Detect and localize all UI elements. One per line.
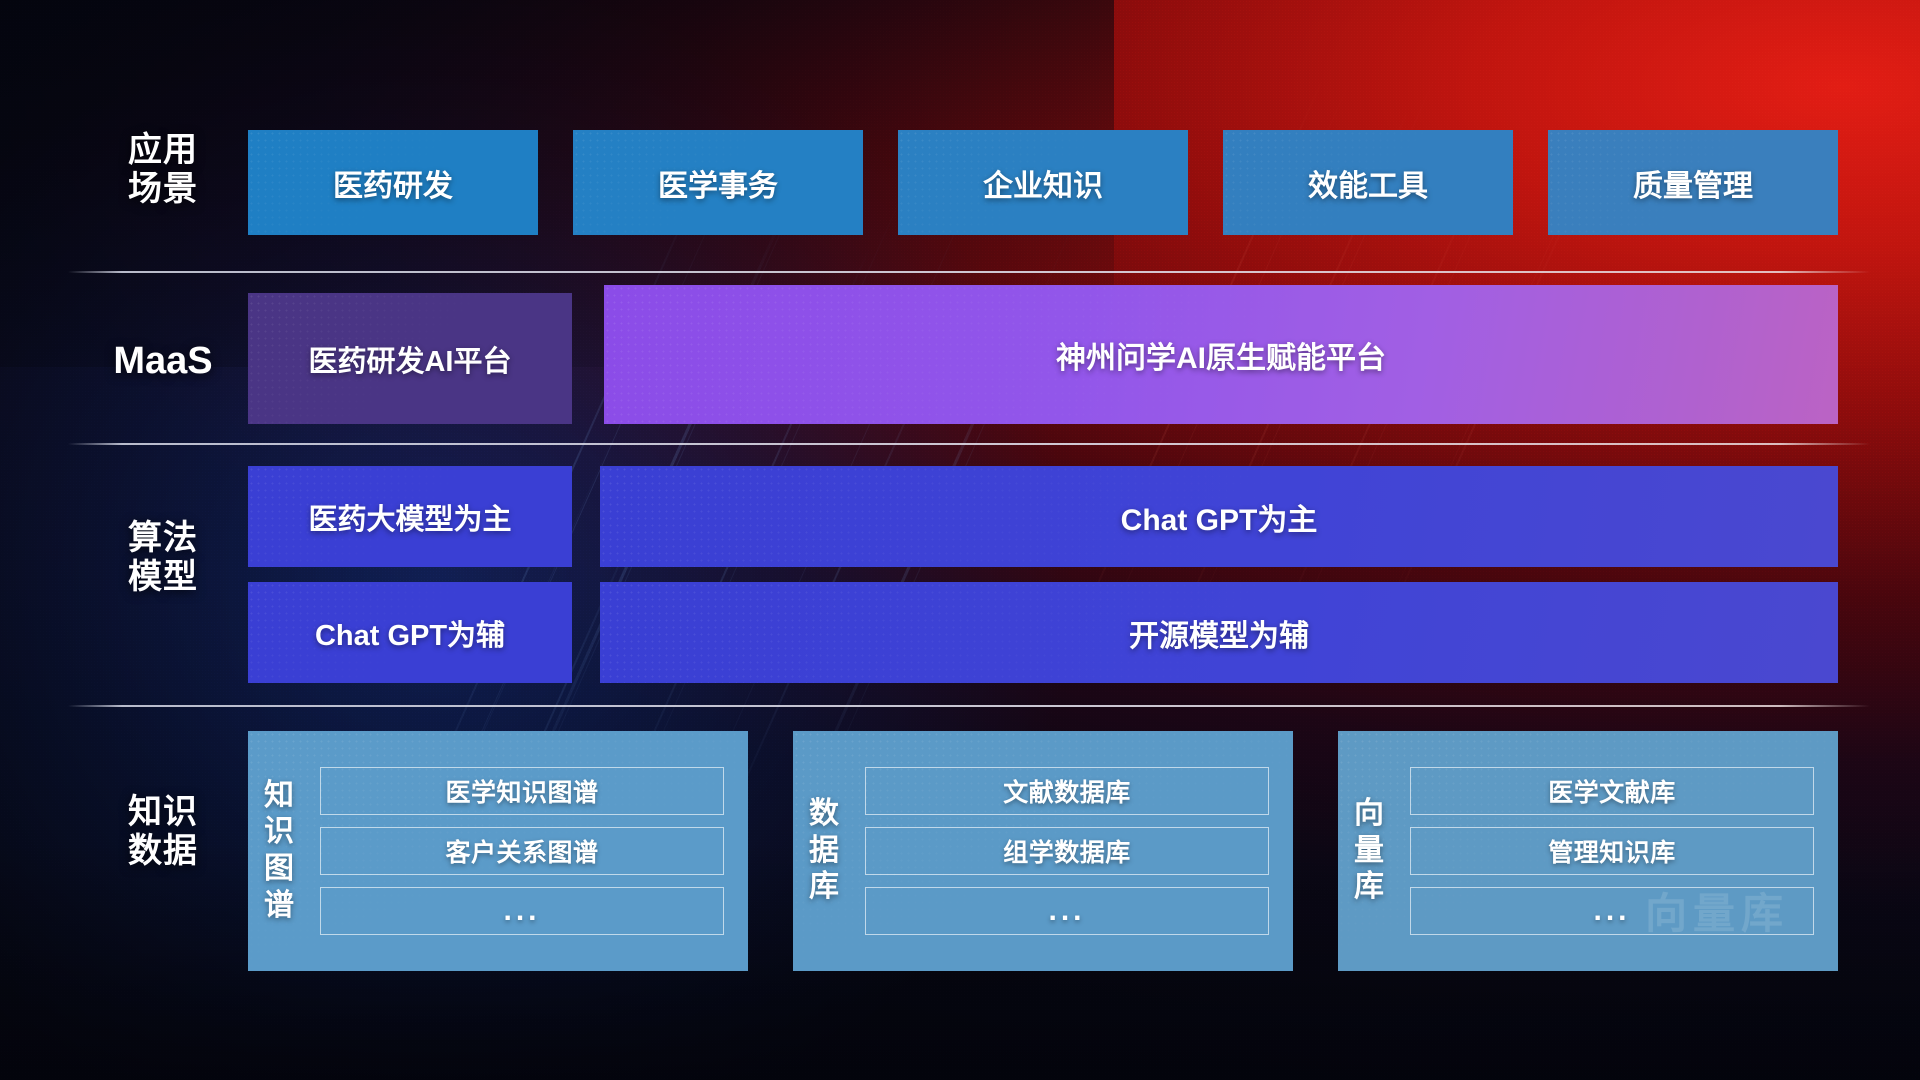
knowledge-item[interactable]: 医学知识图谱 — [320, 767, 724, 815]
layer-label-application-line1: 应用 — [88, 131, 238, 170]
knowledge-panel-2[interactable]: 向 量 库 医学文献库 管理知识库 ... — [1338, 731, 1838, 971]
app-box-2-label: 企业知识 — [983, 161, 1103, 205]
app-box-0-label: 医药研发 — [333, 161, 453, 205]
app-box-4-label: 质量管理 — [1633, 161, 1753, 205]
algo-row-0-left-box[interactable]: 医药大模型为主 — [248, 466, 572, 567]
layer-label-algorithm-line1: 算法 — [88, 519, 238, 558]
knowledge-item[interactable]: 文献数据库 — [865, 767, 1269, 815]
knowledge-panel-1-items: 文献数据库 组学数据库 ... — [855, 767, 1293, 935]
app-box-0[interactable]: 医药研发 — [248, 130, 538, 235]
knowledge-panel-1[interactable]: 数 据 库 文献数据库 组学数据库 ... — [793, 731, 1293, 971]
knowledge-panel-2-vertical-label: 向 量 库 — [1338, 796, 1400, 906]
kp1-vchar-2: 库 — [809, 869, 839, 906]
layer-label-application: 应用 场景 — [88, 131, 238, 210]
algo-row-1-left-box[interactable]: Chat GPT为辅 — [248, 582, 572, 683]
algo-row-0-left-label: 医药大模型为主 — [308, 496, 511, 538]
maas-left-box[interactable]: 医药研发AI平台 — [248, 293, 572, 424]
knowledge-item[interactable]: 医学文献库 — [1410, 767, 1814, 815]
kp0-vchar-1: 识 — [264, 814, 294, 851]
kp2-vchar-1: 量 — [1354, 833, 1384, 870]
app-box-1[interactable]: 医学事务 — [573, 130, 863, 235]
layer-label-application-line2: 场景 — [88, 170, 238, 209]
knowledge-panel-1-vertical-label: 数 据 库 — [793, 796, 855, 906]
algo-row-1-main-label: 开源模型为辅 — [1129, 611, 1309, 655]
app-box-3[interactable]: 效能工具 — [1223, 130, 1513, 235]
kp1-vchar-1: 据 — [809, 833, 839, 870]
layer-label-maas: MaaS — [88, 339, 238, 383]
algo-row-0-main-box[interactable]: Chat GPT为主 — [600, 466, 1838, 567]
knowledge-item[interactable]: 管理知识库 — [1410, 827, 1814, 875]
app-box-4[interactable]: 质量管理 — [1548, 130, 1838, 235]
layer-label-maas-line1: MaaS — [88, 339, 238, 383]
architecture-diagram: 应用 场景 医药研发 医学事务 企业知识 效能工具 质量管理 MaaS 医药研发… — [0, 0, 1920, 1080]
layer-label-knowledge-line2: 数据 — [88, 832, 238, 871]
kp1-vchar-0: 数 — [809, 796, 839, 833]
kp2-vchar-0: 向 — [1354, 796, 1384, 833]
knowledge-item[interactable]: 组学数据库 — [865, 827, 1269, 875]
knowledge-panel-0[interactable]: 知 识 图 谱 医学知识图谱 客户关系图谱 ... — [248, 731, 748, 971]
layer-label-knowledge-line1: 知识 — [88, 793, 238, 832]
knowledge-panel-0-items: 医学知识图谱 客户关系图谱 ... — [310, 767, 748, 935]
app-box-1-label: 医学事务 — [658, 161, 778, 205]
maas-left-box-label: 医药研发AI平台 — [308, 338, 511, 380]
layer-label-algorithm-line2: 模型 — [88, 558, 238, 597]
kp0-vchar-2: 图 — [264, 851, 294, 888]
kp2-vchar-2: 库 — [1354, 869, 1384, 906]
maas-platform-box[interactable]: 神州问学AI原生赋能平台 — [604, 285, 1838, 424]
algo-row-1-main-box[interactable]: 开源模型为辅 — [600, 582, 1838, 683]
layer-label-algorithm: 算法 模型 — [88, 519, 238, 598]
algo-row-0-main-label: Chat GPT为主 — [1121, 495, 1318, 539]
divider-application — [68, 271, 1870, 273]
divider-algorithm — [68, 705, 1870, 707]
maas-platform-box-label: 神州问学AI原生赋能平台 — [1056, 333, 1386, 377]
knowledge-panel-2-items: 医学文献库 管理知识库 ... — [1400, 767, 1838, 935]
algo-row-1-left-label: Chat GPT为辅 — [315, 612, 505, 654]
app-box-3-label: 效能工具 — [1308, 161, 1428, 205]
knowledge-panel-0-vertical-label: 知 识 图 谱 — [248, 778, 310, 924]
layer-label-knowledge: 知识 数据 — [88, 793, 238, 872]
app-box-2[interactable]: 企业知识 — [898, 130, 1188, 235]
knowledge-item-more[interactable]: ... — [320, 887, 724, 935]
knowledge-item-more[interactable]: ... — [1410, 887, 1814, 935]
divider-maas — [68, 443, 1870, 445]
knowledge-item-more[interactable]: ... — [865, 887, 1269, 935]
kp0-vchar-3: 谱 — [264, 888, 294, 925]
kp0-vchar-0: 知 — [264, 778, 294, 815]
knowledge-item[interactable]: 客户关系图谱 — [320, 827, 724, 875]
